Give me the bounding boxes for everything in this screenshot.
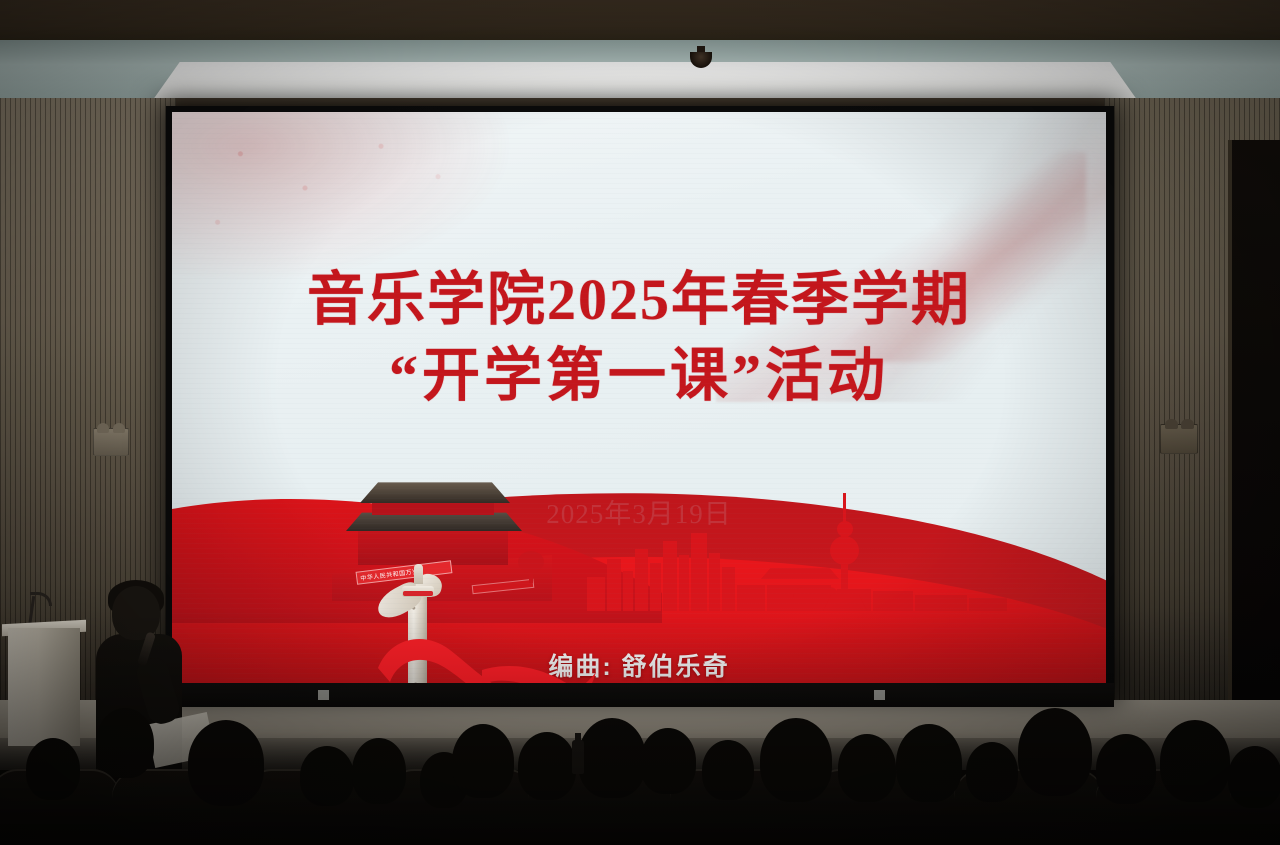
audience-head: [352, 738, 406, 804]
audience-head: [188, 720, 264, 806]
speaker-head: [112, 586, 160, 640]
water-bottle-icon: [572, 740, 584, 774]
slide-date: 2025年3月19日: [172, 492, 1106, 531]
auditorium-scene: 中华人民共和国万岁 音乐学院2025年: [0, 0, 1280, 845]
audience-head: [96, 708, 154, 778]
audience-head: [640, 728, 696, 794]
wall-outlet-plate-icon: [1160, 424, 1198, 454]
slide-title-line-1: 音乐学院2025年春季学期: [172, 262, 1106, 338]
audience-head: [966, 742, 1018, 802]
audience-head: [300, 746, 354, 806]
audience-head: [896, 724, 962, 802]
audience-head: [578, 718, 646, 798]
audience-head: [26, 738, 80, 800]
audience-head: [518, 732, 576, 800]
slide-credit: 编曲: 舒伯乐奇: [172, 647, 1106, 683]
audience-head: [760, 718, 832, 802]
audience-head: [1228, 746, 1280, 808]
audience-head: [1160, 720, 1230, 802]
audience-head: [702, 740, 754, 800]
audience-head: [838, 734, 896, 802]
audience-head: [1018, 708, 1092, 796]
emergency-exit-light-icon: [93, 428, 129, 456]
slide-title: 音乐学院2025年春季学期 “开学第一课”活动: [172, 262, 1106, 414]
audience-head: [1096, 734, 1156, 804]
presentation-slide[interactable]: 中华人民共和国万岁 音乐学院2025年: [172, 112, 1106, 683]
ceiling-surface: [0, 0, 1280, 44]
gate-tree-icon: [518, 553, 544, 583]
audience-head: [452, 724, 514, 798]
side-door[interactable]: [1232, 140, 1280, 700]
red-ribbon-icon: [372, 558, 492, 683]
seated-audience-silhouettes: [0, 690, 1280, 845]
slide-title-line-2: “开学第一课”活动: [172, 338, 1106, 414]
